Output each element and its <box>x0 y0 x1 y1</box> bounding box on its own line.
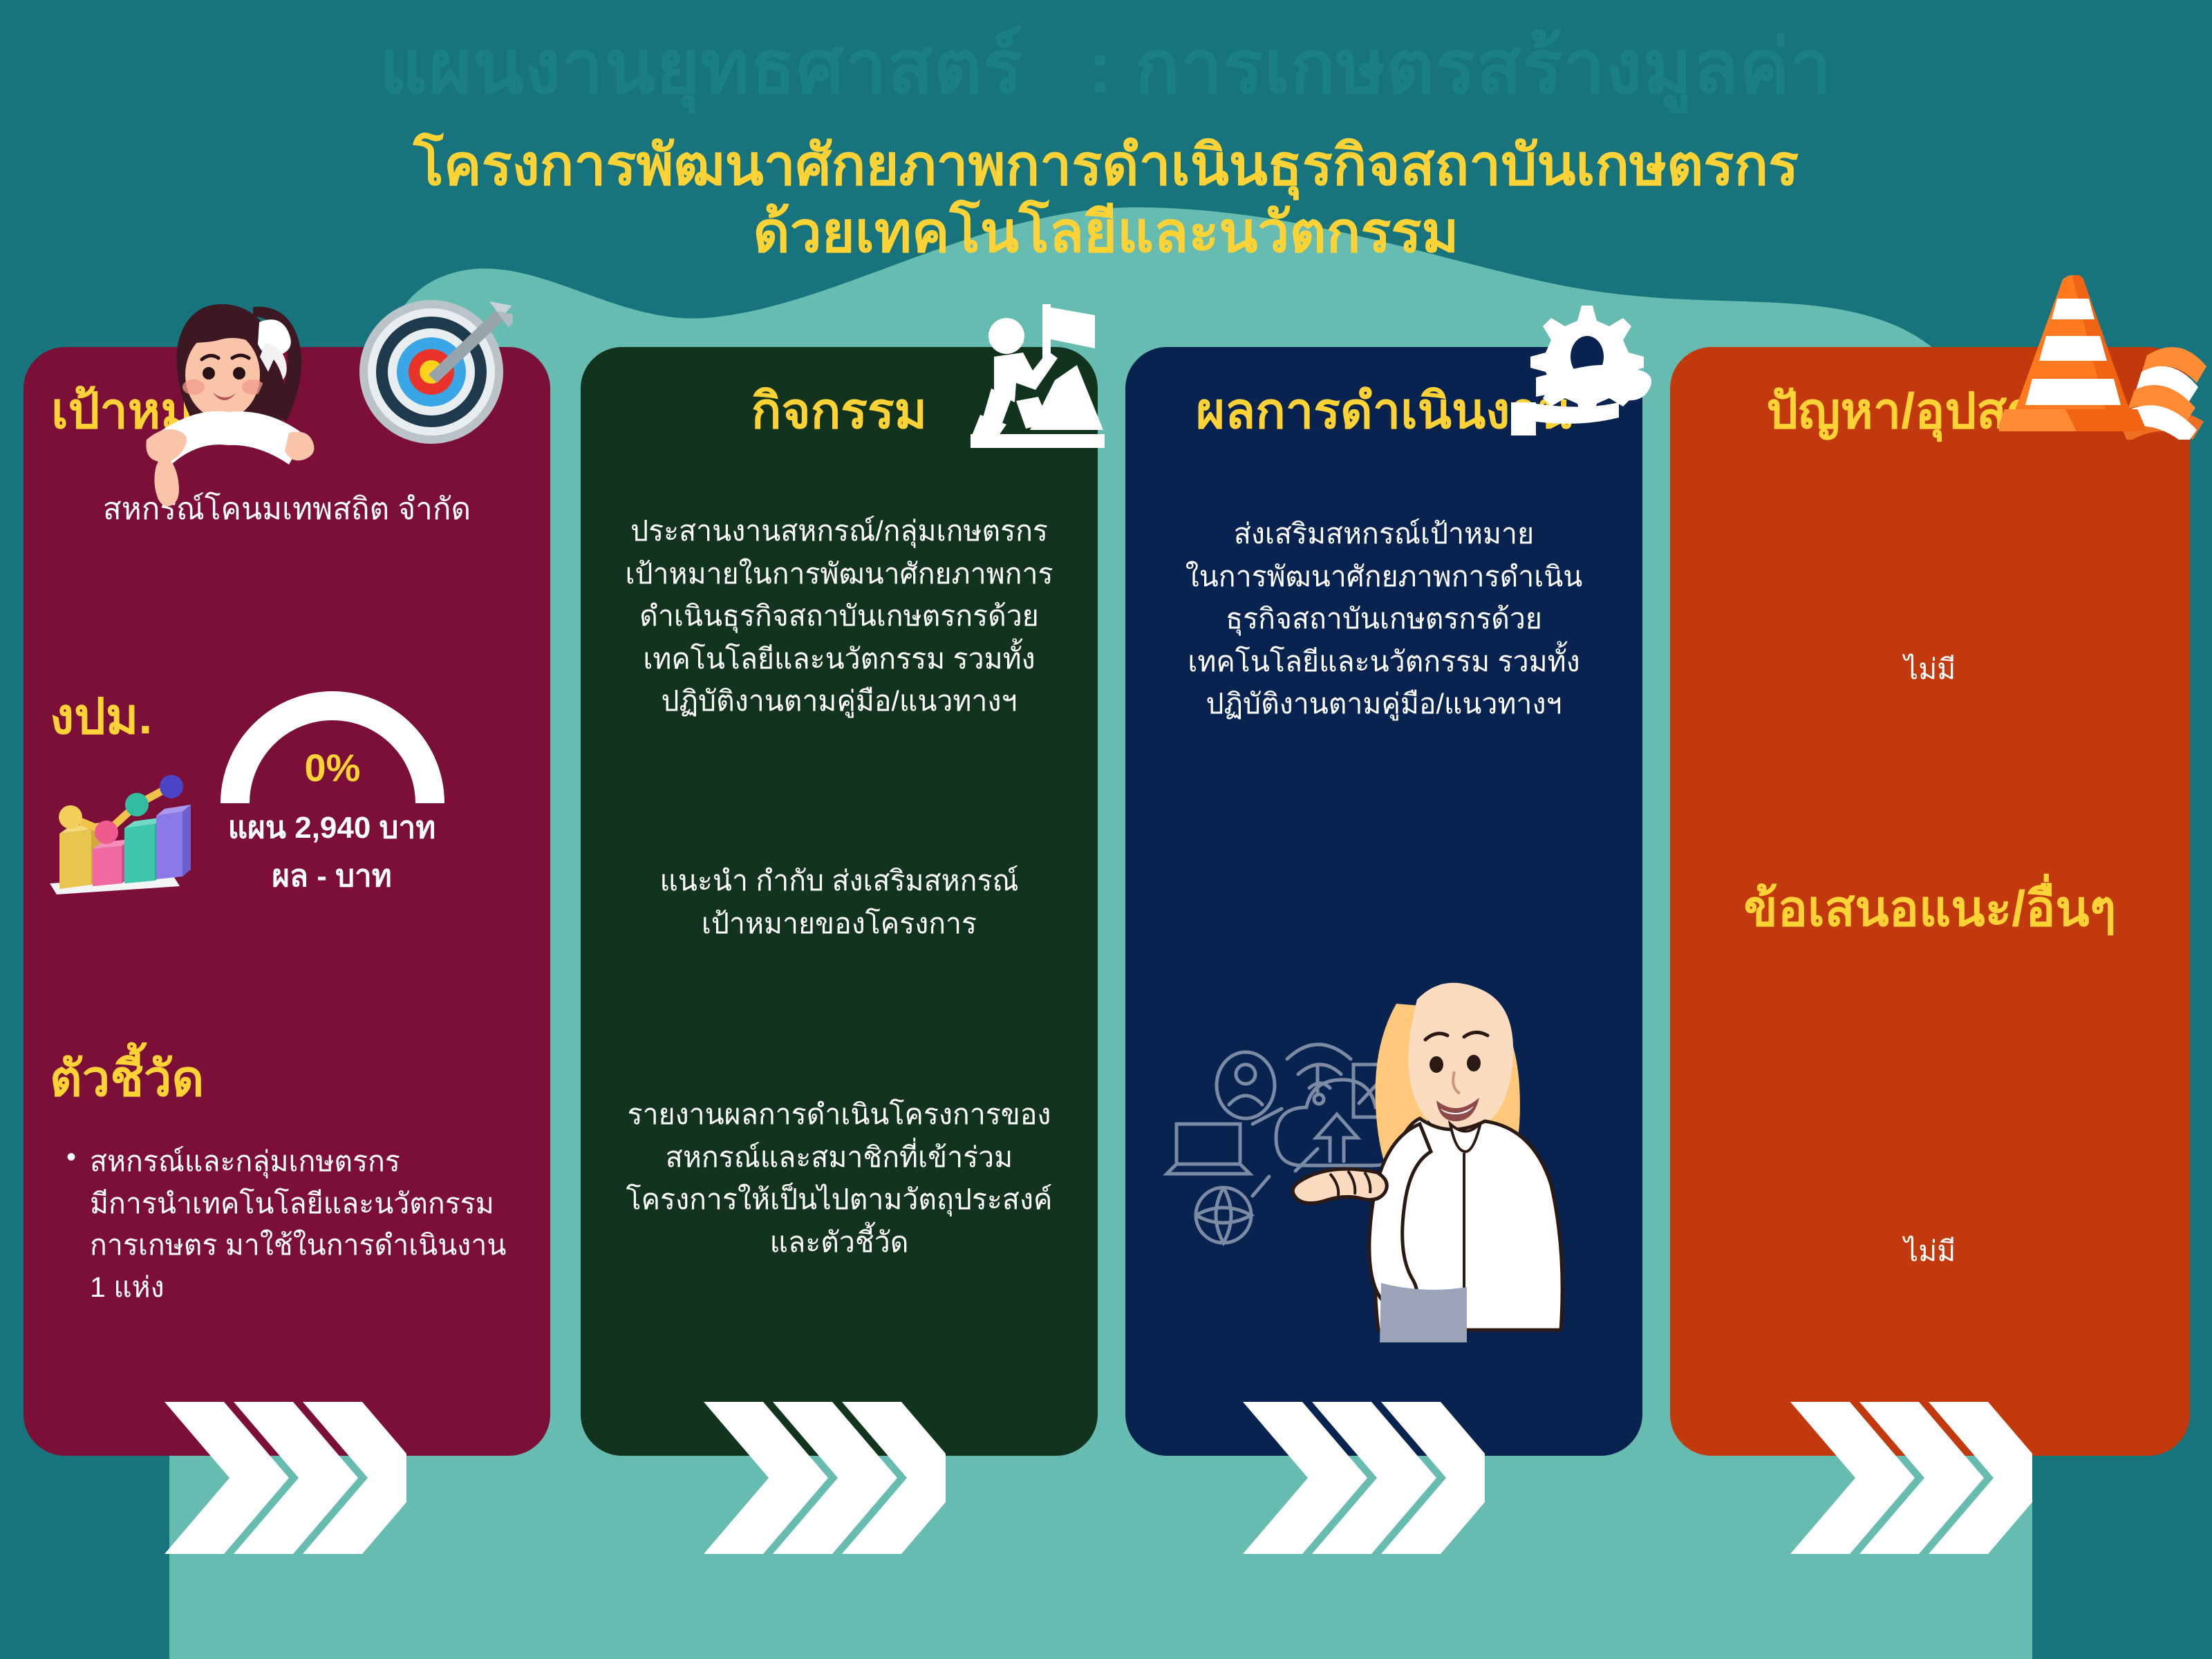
budget-plan: แผน 2,940 บาท <box>180 806 484 850</box>
page-subtitle: โครงการพัฒนาศักยภาพการดำเนินธุรกิจสถาบัน… <box>0 133 2212 267</box>
kpi-text: สหกรณ์และกลุ่มเกษตรกร มีการนำเทคโนโลยีแล… <box>24 1141 550 1309</box>
traffic-cone-icon <box>1999 267 2206 440</box>
card-activities[interactable]: กิจกรรม ประสานงานสหกรณ์/กลุ่มเกษตรกร เป้… <box>581 347 1098 1456</box>
woman-tech-icon <box>1152 917 1616 1345</box>
card-problems[interactable]: ปัญหา/อุปสรรค ไม่มี ข้อเสนอแนะ/อื่นๆ ไม่… <box>1670 347 2190 1456</box>
card-results[interactable]: ผลการดำเนินงาน ส่งเสริมสหกรณ์เป้าหมาย ใน… <box>1125 347 1642 1456</box>
suggestions-heading: ข้อเสนอแนะ/อื่นๆ <box>1670 868 2190 948</box>
problems-text: ไม่มี <box>1670 648 2190 691</box>
activities-paragraph-3: รายงานผลการดำเนินโครงการของ สหกรณ์และสมา… <box>581 1094 1098 1264</box>
page-subtitle-line1: โครงการพัฒนาศักยภาพการดำเนินธุรกิจสถาบัน… <box>0 133 2212 200</box>
bar-chart-3d-icon <box>35 762 207 900</box>
card-goal[interactable]: เป้าหมาย : สหกรณ์โคนมเทพสถิต จำกัด งปม. <box>24 347 550 1456</box>
budget-actual: ผล - บาท <box>180 854 484 899</box>
kpi-heading: ตัวชี้วัด <box>24 1038 550 1118</box>
chevron-arrows-icon-problems <box>1783 1395 2032 1561</box>
gear-hand-icon <box>1506 293 1658 452</box>
page-title: แผนงานยุทธศาสตร์ : การเกษตรสร้างมูลค่า <box>0 26 2212 109</box>
page-header: แผนงานยุทธศาสตร์ : การเกษตรสร้างมูลค่า โ… <box>0 0 2212 304</box>
budget-percent: 0% <box>218 745 447 790</box>
activities-paragraph-1: ประสานงานสหกรณ์/กลุ่มเกษตรกร เป้าหมายในก… <box>581 510 1098 723</box>
target-dartboard-icon <box>354 289 513 448</box>
results-paragraph-1: ส่งเสริมสหกรณ์เป้าหมาย ในการพัฒนาศักยภาพ… <box>1125 513 1642 726</box>
chevron-arrows-icon-results <box>1236 1395 1485 1561</box>
pointing-woman-icon <box>118 276 346 512</box>
activities-paragraph-2: แนะนำ กำกับ ส่งเสริมสหกรณ์ เป้าหมายของโค… <box>581 860 1098 945</box>
chevron-arrows-icon-activities <box>697 1395 946 1561</box>
climber-flag-icon <box>966 299 1105 451</box>
suggestions-text: ไม่มี <box>1670 1230 2190 1273</box>
page-subtitle-line2: ด้วยเทคโนโลยีและนวัตกรรม <box>0 200 2212 267</box>
chevron-arrows-icon-goal <box>158 1395 406 1561</box>
